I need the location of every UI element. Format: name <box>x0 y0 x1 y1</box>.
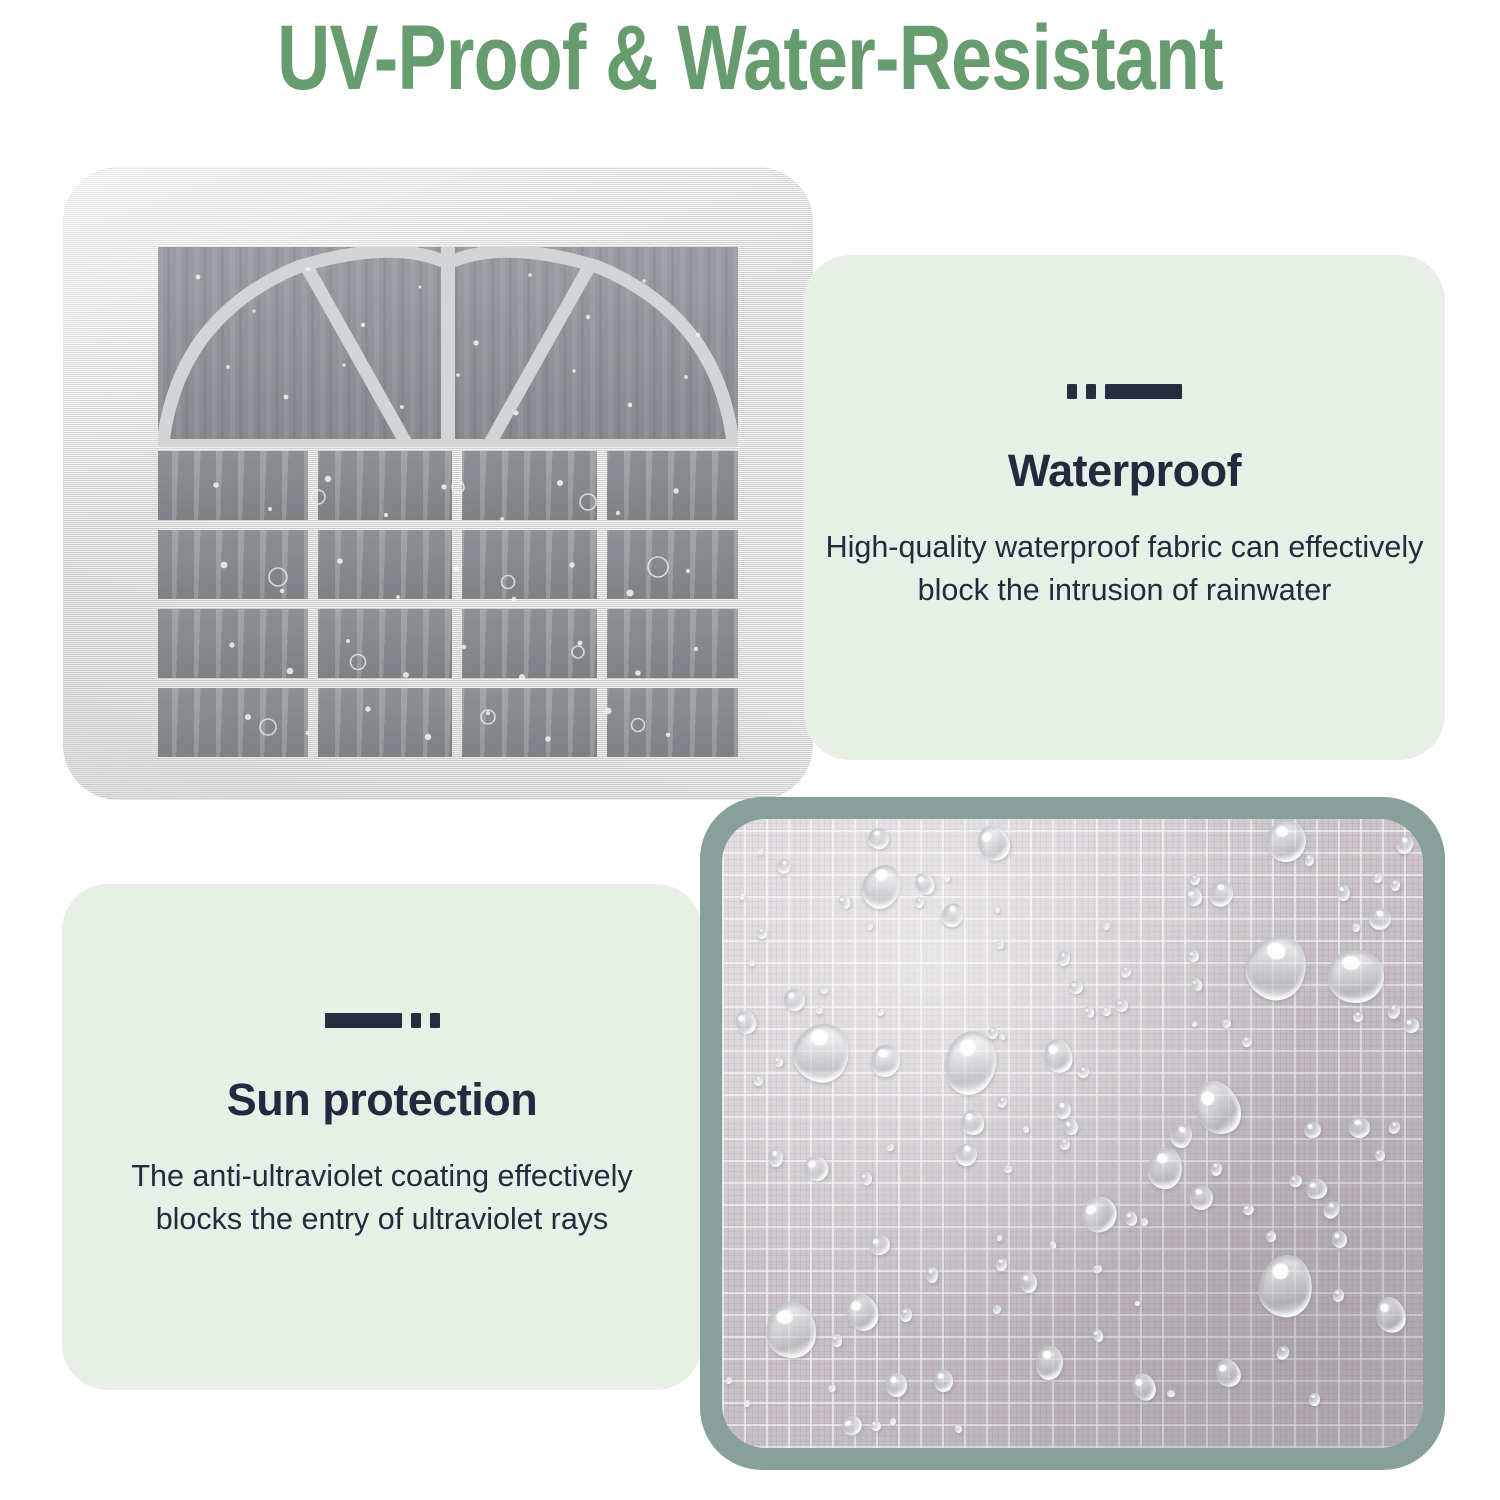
water-droplet <box>743 1399 751 1408</box>
water-droplet <box>765 1301 816 1358</box>
marker-bar <box>1105 384 1182 399</box>
water-droplet <box>954 1424 962 1433</box>
water-droplet <box>972 820 1016 866</box>
water-droplet <box>1166 1389 1176 1398</box>
marker-square <box>430 1013 440 1028</box>
water-droplet <box>1264 1229 1278 1243</box>
water-droplet <box>1386 1119 1401 1135</box>
water-droplet <box>1144 1145 1185 1192</box>
water-droplet <box>1366 905 1396 935</box>
marker-bar <box>325 1013 402 1028</box>
water-droplet <box>900 1308 913 1322</box>
window-pane <box>462 609 596 678</box>
water-droplet <box>999 1034 1006 1042</box>
page-title: UV-Proof & Water-Resistant <box>150 10 1350 107</box>
water-droplet <box>1303 1121 1321 1139</box>
water-droplet <box>1394 833 1416 857</box>
water-droplet <box>1068 980 1085 996</box>
marker-square <box>1086 384 1096 399</box>
water-droplet <box>944 876 951 883</box>
water-droplet <box>1321 1199 1343 1222</box>
water-droplet <box>1187 949 1200 963</box>
infographic-root: UV-Proof & Water-Resistant <box>0 0 1500 1500</box>
window-pane <box>462 530 596 599</box>
window-pane <box>158 530 308 599</box>
water-droplet <box>1091 1328 1106 1344</box>
water-droplet <box>856 859 908 915</box>
water-droplet <box>1221 1017 1232 1028</box>
water-droplet <box>1003 1164 1012 1173</box>
water-droplet <box>758 849 765 856</box>
water-droplet <box>1402 1017 1419 1034</box>
water-droplet <box>748 959 755 966</box>
water-droplet <box>786 1015 857 1089</box>
window-assembly <box>158 247 738 757</box>
water-droplet <box>1184 886 1205 908</box>
window-pane-row <box>158 609 738 678</box>
card-sun-protection: Sun protection The anti-ultraviolet coat… <box>62 884 702 1390</box>
window-pane <box>318 609 452 678</box>
window-pane <box>607 530 738 599</box>
water-droplet <box>1076 1064 1091 1080</box>
window-pane <box>318 530 452 599</box>
water-droplet <box>1330 1229 1347 1248</box>
water-droplet <box>1324 946 1387 1006</box>
window-arch-section <box>158 247 738 447</box>
water-droplet <box>836 893 852 910</box>
marker-sun-protection <box>325 1012 440 1028</box>
water-droplet <box>1210 1162 1222 1177</box>
water-droplet <box>1114 998 1129 1013</box>
water-droplet <box>1275 1344 1292 1361</box>
water-droplet <box>775 857 793 876</box>
water-droplet <box>868 1042 902 1079</box>
window-pane <box>462 451 596 520</box>
water-droplet <box>1349 1117 1370 1138</box>
water-droplet <box>732 1008 759 1037</box>
water-droplet <box>841 1290 884 1336</box>
water-droplet <box>1187 1074 1249 1142</box>
water-droplet <box>857 1170 874 1187</box>
water-droplet <box>914 896 925 908</box>
water-droplet <box>1139 1217 1149 1227</box>
photo-fabric-inner <box>722 819 1423 1448</box>
water-droplet <box>739 893 746 901</box>
water-droplet <box>831 1333 843 1347</box>
water-droplet <box>782 987 806 1012</box>
water-droplet <box>769 1149 784 1167</box>
water-droplet <box>926 1266 940 1283</box>
water-droplet <box>995 1257 1008 1272</box>
water-droplet <box>1189 873 1201 886</box>
water-droplet <box>876 1007 885 1016</box>
water-droplet <box>1390 880 1400 891</box>
photo-fabric-droplets <box>700 797 1445 1470</box>
water-droplet <box>1167 1121 1196 1151</box>
window-arch-svg <box>158 247 738 447</box>
water-droplet <box>726 1377 732 1384</box>
water-droplet <box>1288 1174 1302 1188</box>
window-pane <box>607 451 738 520</box>
water-droplet <box>889 1418 896 1426</box>
water-droplet <box>865 922 873 930</box>
water-droplet <box>1102 921 1111 930</box>
water-droplet <box>1372 872 1383 884</box>
water-droplet <box>1062 1117 1079 1136</box>
marker-waterproof <box>1067 383 1182 399</box>
water-droplet <box>885 1372 908 1398</box>
water-droplet <box>801 1153 833 1185</box>
window-pane <box>158 688 308 757</box>
water-droplet <box>952 1139 982 1170</box>
water-droplet-layer <box>722 819 1423 1448</box>
water-droplet <box>1119 965 1133 980</box>
window-pane <box>158 609 308 678</box>
water-droplet <box>995 907 1001 914</box>
window-pane-grid <box>158 451 738 757</box>
card-waterproof: Waterproof High-quality waterproof fabri… <box>804 255 1445 760</box>
water-droplet <box>818 984 829 995</box>
water-droplet <box>773 1055 785 1067</box>
window-pane-row <box>158 451 738 520</box>
water-droplet <box>815 1006 824 1015</box>
water-droplet <box>939 900 967 930</box>
water-droplet <box>1304 854 1313 865</box>
water-droplet <box>1041 1036 1076 1075</box>
water-droplet <box>1374 1149 1386 1161</box>
window-pane <box>318 451 452 520</box>
water-droplet <box>911 869 938 898</box>
water-droplet <box>1266 820 1306 862</box>
water-droplet <box>997 1234 1003 1241</box>
water-droplet <box>1055 1100 1072 1119</box>
water-droplet <box>1035 1345 1065 1381</box>
water-droplet <box>1371 1294 1408 1336</box>
water-droplet <box>1124 1209 1140 1227</box>
water-droplet <box>827 1383 837 1393</box>
water-droplet <box>885 1143 894 1152</box>
water-droplet <box>1351 1010 1364 1024</box>
card-body-sun-protection: The anti-ultraviolet coating effectively… <box>102 1155 662 1242</box>
window-pane <box>318 688 452 757</box>
marker-square <box>1067 384 1077 399</box>
window-pane <box>462 688 596 757</box>
water-droplet <box>866 1232 892 1257</box>
water-droplet <box>1101 1007 1110 1016</box>
water-droplet <box>838 1412 865 1439</box>
card-title-sun-protection: Sun protection <box>227 1074 537 1126</box>
water-droplet <box>996 1095 1008 1109</box>
water-droplet <box>933 1370 953 1393</box>
water-droplet <box>1075 1190 1124 1238</box>
water-droplet <box>1386 1003 1401 1020</box>
water-droplet <box>1241 1035 1253 1047</box>
water-droplet <box>960 1109 985 1136</box>
water-droplet <box>1332 1288 1344 1302</box>
water-droplet <box>756 927 767 939</box>
water-droplet <box>1336 884 1350 901</box>
water-droplet <box>1092 1264 1103 1275</box>
photo-window-rain <box>63 167 813 800</box>
water-droplet <box>1211 1355 1244 1390</box>
water-droplet <box>1242 1204 1255 1216</box>
water-droplet <box>1082 1005 1096 1020</box>
card-title-waterproof: Waterproof <box>1008 445 1241 497</box>
water-droplet <box>1134 1300 1140 1306</box>
water-droplet <box>1128 1370 1161 1405</box>
window-pane <box>158 451 308 520</box>
water-droplet <box>1303 1176 1328 1201</box>
water-droplet <box>1255 1252 1314 1319</box>
water-droplet <box>1049 1240 1058 1249</box>
window-pane-row <box>158 530 738 599</box>
water-droplet <box>1206 878 1237 911</box>
water-droplet <box>1022 1125 1030 1133</box>
water-droplet <box>1191 1020 1198 1028</box>
water-droplet <box>866 826 891 850</box>
water-droplet <box>991 1304 1001 1314</box>
window-pane <box>607 609 738 678</box>
marker-square <box>411 1013 421 1028</box>
water-droplet <box>1189 977 1204 993</box>
card-body-waterproof: High-quality waterproof fabric can effec… <box>825 526 1425 613</box>
water-droplet <box>1190 1185 1214 1210</box>
water-droplet <box>1309 1393 1320 1407</box>
water-droplet <box>1352 923 1360 932</box>
water-droplet <box>1057 950 1071 967</box>
water-droplet <box>995 940 1005 950</box>
window-pane-row <box>158 688 738 757</box>
water-droplet <box>1059 1137 1072 1150</box>
water-droplet <box>1018 1271 1038 1294</box>
window-pane <box>607 688 738 757</box>
water-droplet <box>1236 926 1317 1009</box>
water-droplet <box>752 1074 764 1087</box>
water-droplet <box>870 1421 881 1433</box>
